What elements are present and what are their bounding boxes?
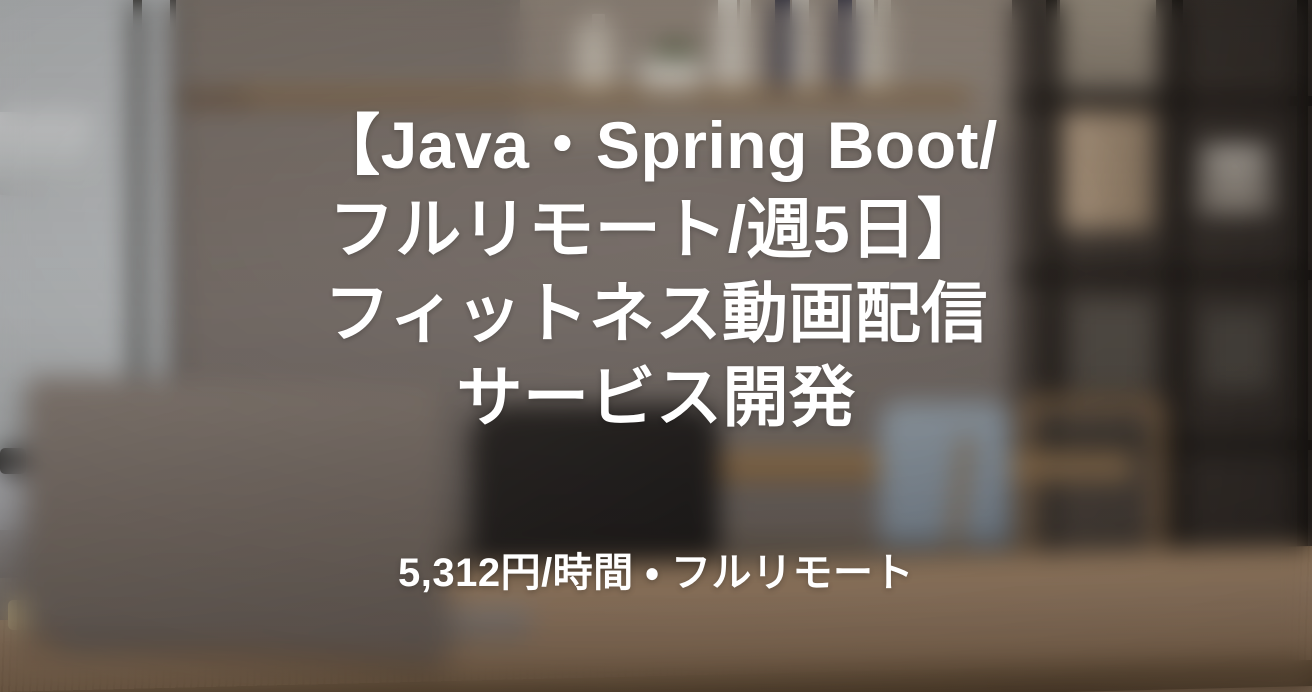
job-rate-and-workstyle: 5,312円/時間 ・ フルリモート xyxy=(398,547,914,599)
card-content: 【Java・Spring Boot/フルリモート/週5日】フィットネス動画配信サ… xyxy=(0,0,1312,692)
job-ogp-card: 【Java・Spring Boot/フルリモート/週5日】フィットネス動画配信サ… xyxy=(0,0,1312,692)
job-title: 【Java・Spring Boot/フルリモート/週5日】フィットネス動画配信サ… xyxy=(261,103,1051,439)
